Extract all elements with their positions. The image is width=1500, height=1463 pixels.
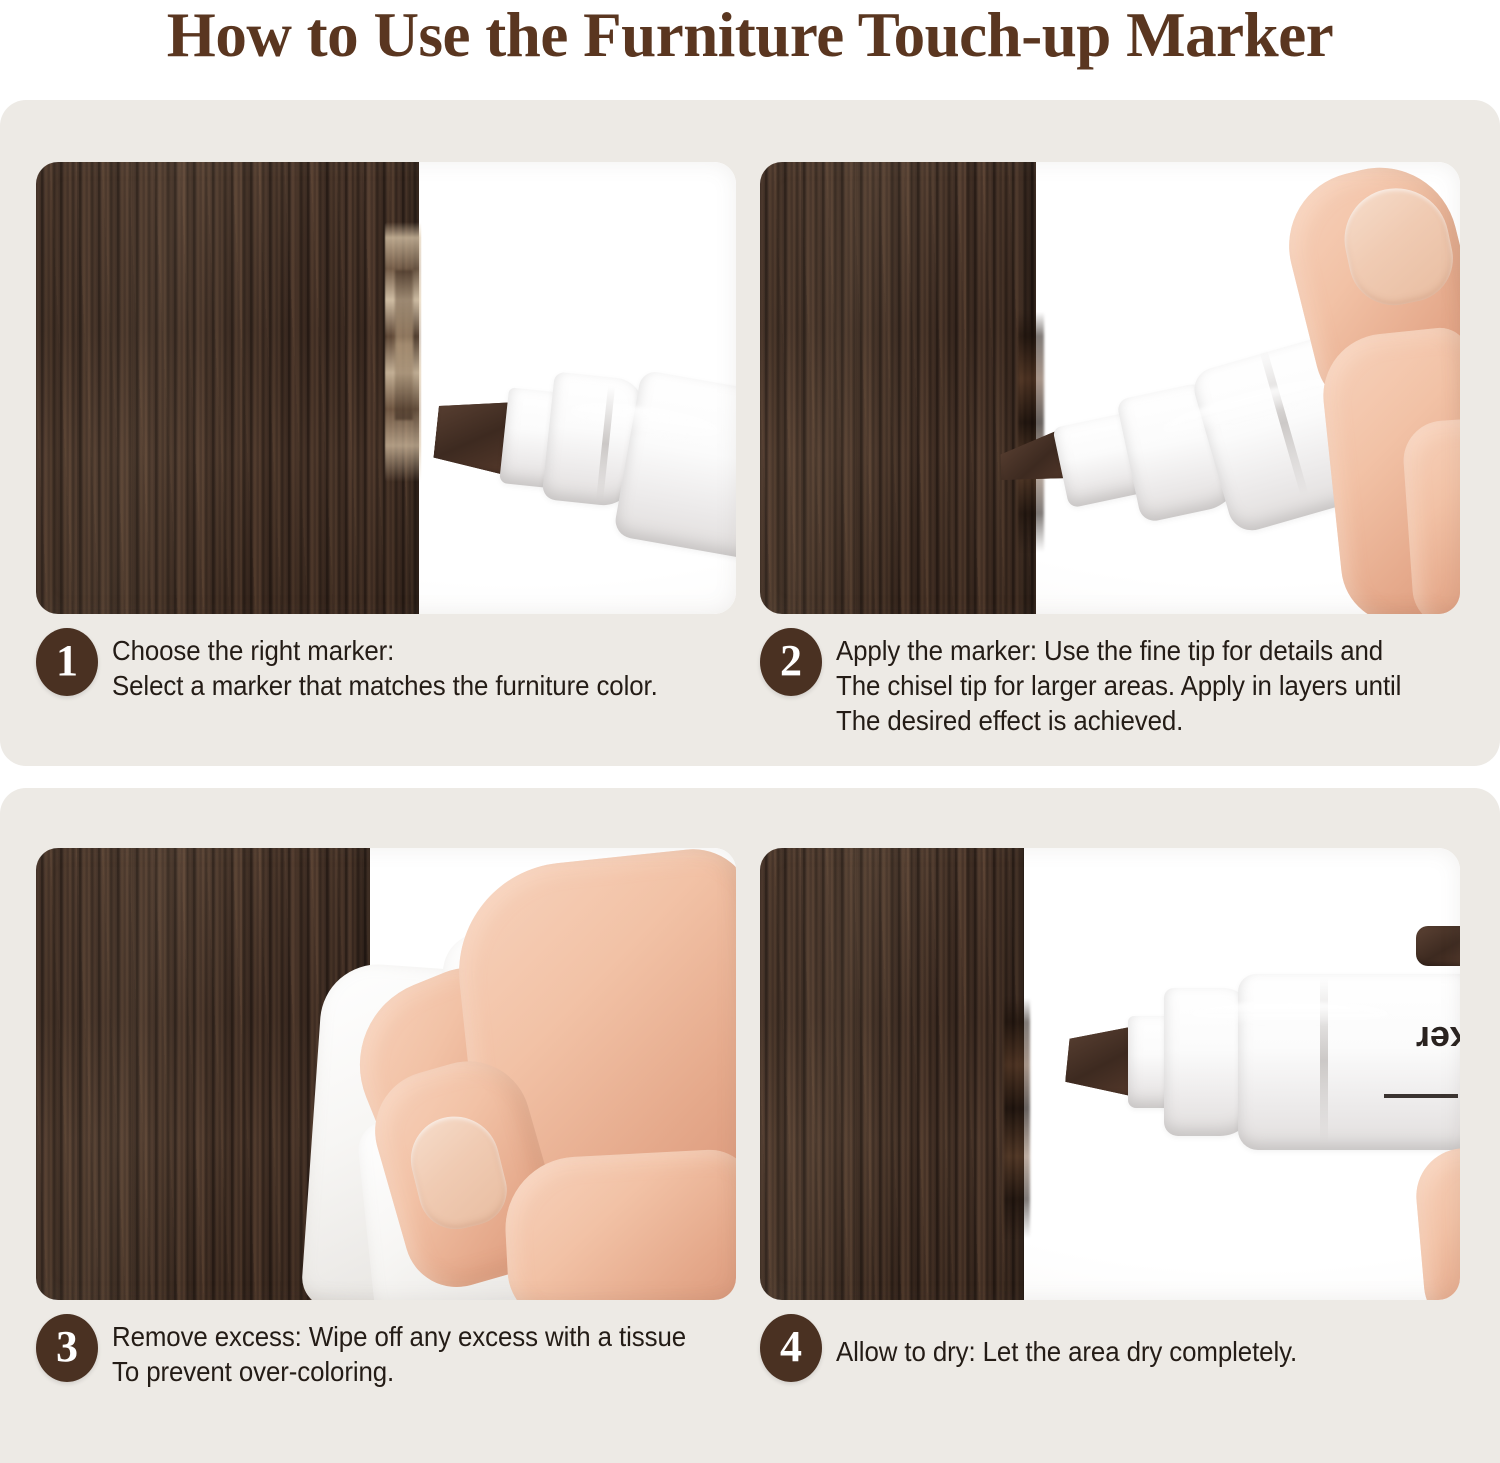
wood-sheen	[760, 162, 1036, 614]
wood-plank	[760, 848, 1024, 1300]
step-4-photo: ker	[760, 848, 1460, 1300]
marker-label: ker	[1380, 1016, 1460, 1062]
infographic-page: How to Use the Furniture Touch-up Marker	[0, 0, 1500, 1463]
page-title: How to Use the Furniture Touch-up Marker	[11, 0, 1489, 74]
wood-sheen	[760, 848, 1024, 1300]
step-4: ker 4 Allow to dry: Let the area dry com…	[760, 848, 1460, 1382]
step-1-caption-row: 1 Choose the right marker: Select a mark…	[36, 628, 736, 703]
marker-label-underline	[1384, 1094, 1458, 1098]
step-3: 3 Remove excess: Wipe off any excess wit…	[36, 848, 736, 1389]
step-2-caption: Apply the marker: Use the fine tip for d…	[836, 628, 1401, 739]
step-1-caption: Choose the right marker: Select a marker…	[112, 628, 658, 703]
step-1-photo	[36, 162, 736, 614]
marker-highlight	[1190, 1002, 1390, 1026]
wood-plank	[760, 162, 1036, 614]
step-3-badge: 3	[36, 1314, 98, 1382]
step-2-badge: 2	[760, 628, 822, 696]
wood-chipped-edge	[1018, 312, 1044, 552]
wood-plank	[36, 162, 419, 614]
step-2: 2 Apply the marker: Use the fine tip for…	[760, 162, 1460, 739]
step-3-caption: Remove excess: Wipe off any excess with …	[112, 1314, 686, 1389]
step-2-photo	[760, 162, 1460, 614]
step-1: 1 Choose the right marker: Select a mark…	[36, 162, 736, 703]
lower-fingers	[502, 1148, 736, 1300]
step-4-caption-row: 4 Allow to dry: Let the area dry complet…	[760, 1314, 1460, 1382]
step-4-badge: 4	[760, 1314, 822, 1382]
step-3-caption-row: 3 Remove excess: Wipe off any excess wit…	[36, 1314, 736, 1389]
marker-body	[1238, 974, 1460, 1150]
wood-sheen	[36, 162, 419, 614]
step-3-photo	[36, 848, 736, 1300]
wood-repaired-edge	[1004, 998, 1030, 1238]
step-2-caption-row: 2 Apply the marker: Use the fine tip for…	[760, 628, 1460, 739]
step-1-badge: 1	[36, 628, 98, 696]
marker-fine-nib	[1416, 926, 1460, 966]
step-4-caption: Allow to dry: Let the area dry completel…	[836, 1314, 1297, 1369]
wood-scratch-detail	[395, 270, 413, 420]
